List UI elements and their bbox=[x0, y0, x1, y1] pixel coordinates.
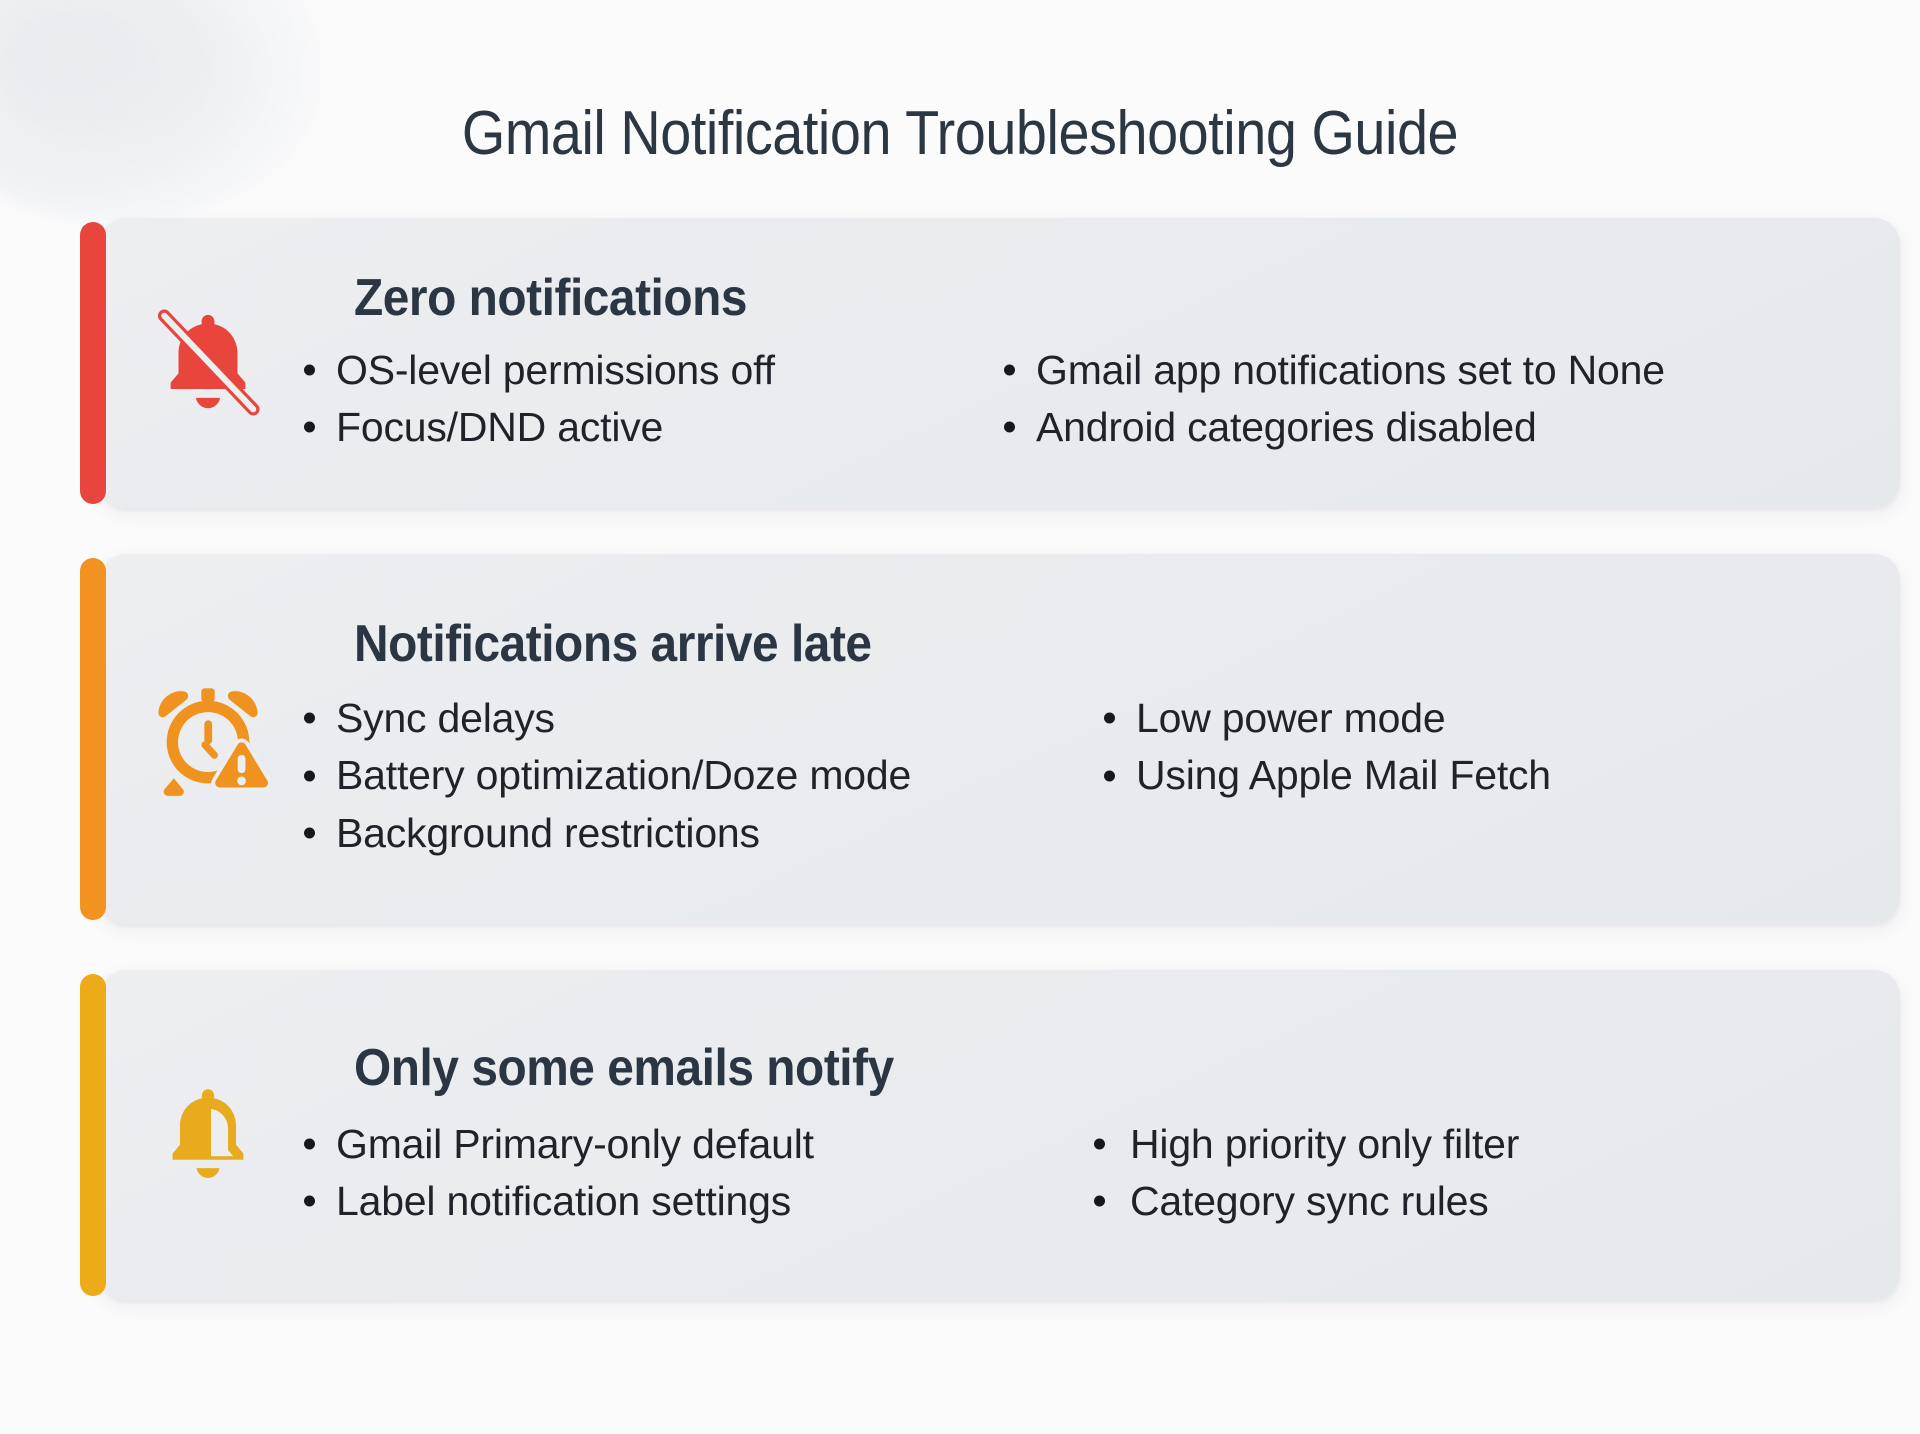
infographic-page: Gmail Notification Troubleshooting Guide bbox=[0, 0, 1920, 1434]
card-notifications-arrive-late: Notifications arrive late Sync delays Ba… bbox=[100, 554, 1900, 924]
list-item: Gmail app notifications set to None bbox=[990, 344, 1790, 396]
bullet-column-left: OS-level permissions off Focus/DND activ… bbox=[290, 344, 990, 458]
card-only-some-emails-notify: Only some emails notify Gmail Primary-on… bbox=[100, 970, 1900, 1300]
bullet-column-left: Sync delays Battery optimization/Doze mo… bbox=[290, 692, 1090, 863]
card-heading: Notifications arrive late bbox=[354, 614, 1740, 674]
list-item: High priority only filter bbox=[1080, 1118, 1780, 1170]
bullet-column-right: Gmail app notifications set to None Andr… bbox=[990, 344, 1790, 458]
card-list: Zero notifications OS-level permissions … bbox=[100, 218, 1920, 1346]
bell-icon bbox=[100, 1079, 290, 1191]
list-item: OS-level permissions off bbox=[290, 344, 990, 396]
card-heading: Zero notifications bbox=[354, 268, 1740, 328]
list-item: Background restrictions bbox=[290, 807, 1090, 859]
bullet-column-right: High priority only filter Category sync … bbox=[1080, 1118, 1780, 1232]
card-body: Zero notifications OS-level permissions … bbox=[290, 238, 1900, 488]
accent-bar-yellow bbox=[80, 974, 106, 1296]
bullet-column-left: Gmail Primary-only default Label notific… bbox=[290, 1118, 1080, 1232]
card-body: Notifications arrive late Sync delays Ba… bbox=[290, 584, 1900, 893]
bullet-columns: OS-level permissions off Focus/DND activ… bbox=[290, 344, 1860, 458]
list-item: Battery optimization/Doze mode bbox=[290, 749, 1090, 801]
bullet-columns: Gmail Primary-only default Label notific… bbox=[290, 1118, 1860, 1232]
bullet-column-right: Low power mode Using Apple Mail Fetch bbox=[1090, 692, 1790, 806]
list-item: Gmail Primary-only default bbox=[290, 1118, 1080, 1170]
list-item: Sync delays bbox=[290, 692, 1090, 744]
card-heading: Only some emails notify bbox=[354, 1038, 1740, 1098]
list-item: Android categories disabled bbox=[990, 401, 1790, 453]
alarm-clock-warning-icon bbox=[100, 677, 290, 801]
list-item: Label notification settings bbox=[290, 1175, 1080, 1227]
accent-bar-orange bbox=[80, 558, 106, 920]
card-zero-notifications: Zero notifications OS-level permissions … bbox=[100, 218, 1900, 508]
list-item: Focus/DND active bbox=[290, 401, 990, 453]
page-title: Gmail Notification Troubleshooting Guide bbox=[96, 100, 1824, 168]
bullet-columns: Sync delays Battery optimization/Doze mo… bbox=[290, 692, 1860, 863]
bell-slash-icon bbox=[100, 304, 290, 422]
list-item: Using Apple Mail Fetch bbox=[1090, 749, 1790, 801]
list-item: Category sync rules bbox=[1080, 1175, 1780, 1227]
card-body: Only some emails notify Gmail Primary-on… bbox=[290, 1008, 1900, 1262]
accent-bar-red bbox=[80, 222, 106, 504]
list-item: Low power mode bbox=[1090, 692, 1790, 744]
